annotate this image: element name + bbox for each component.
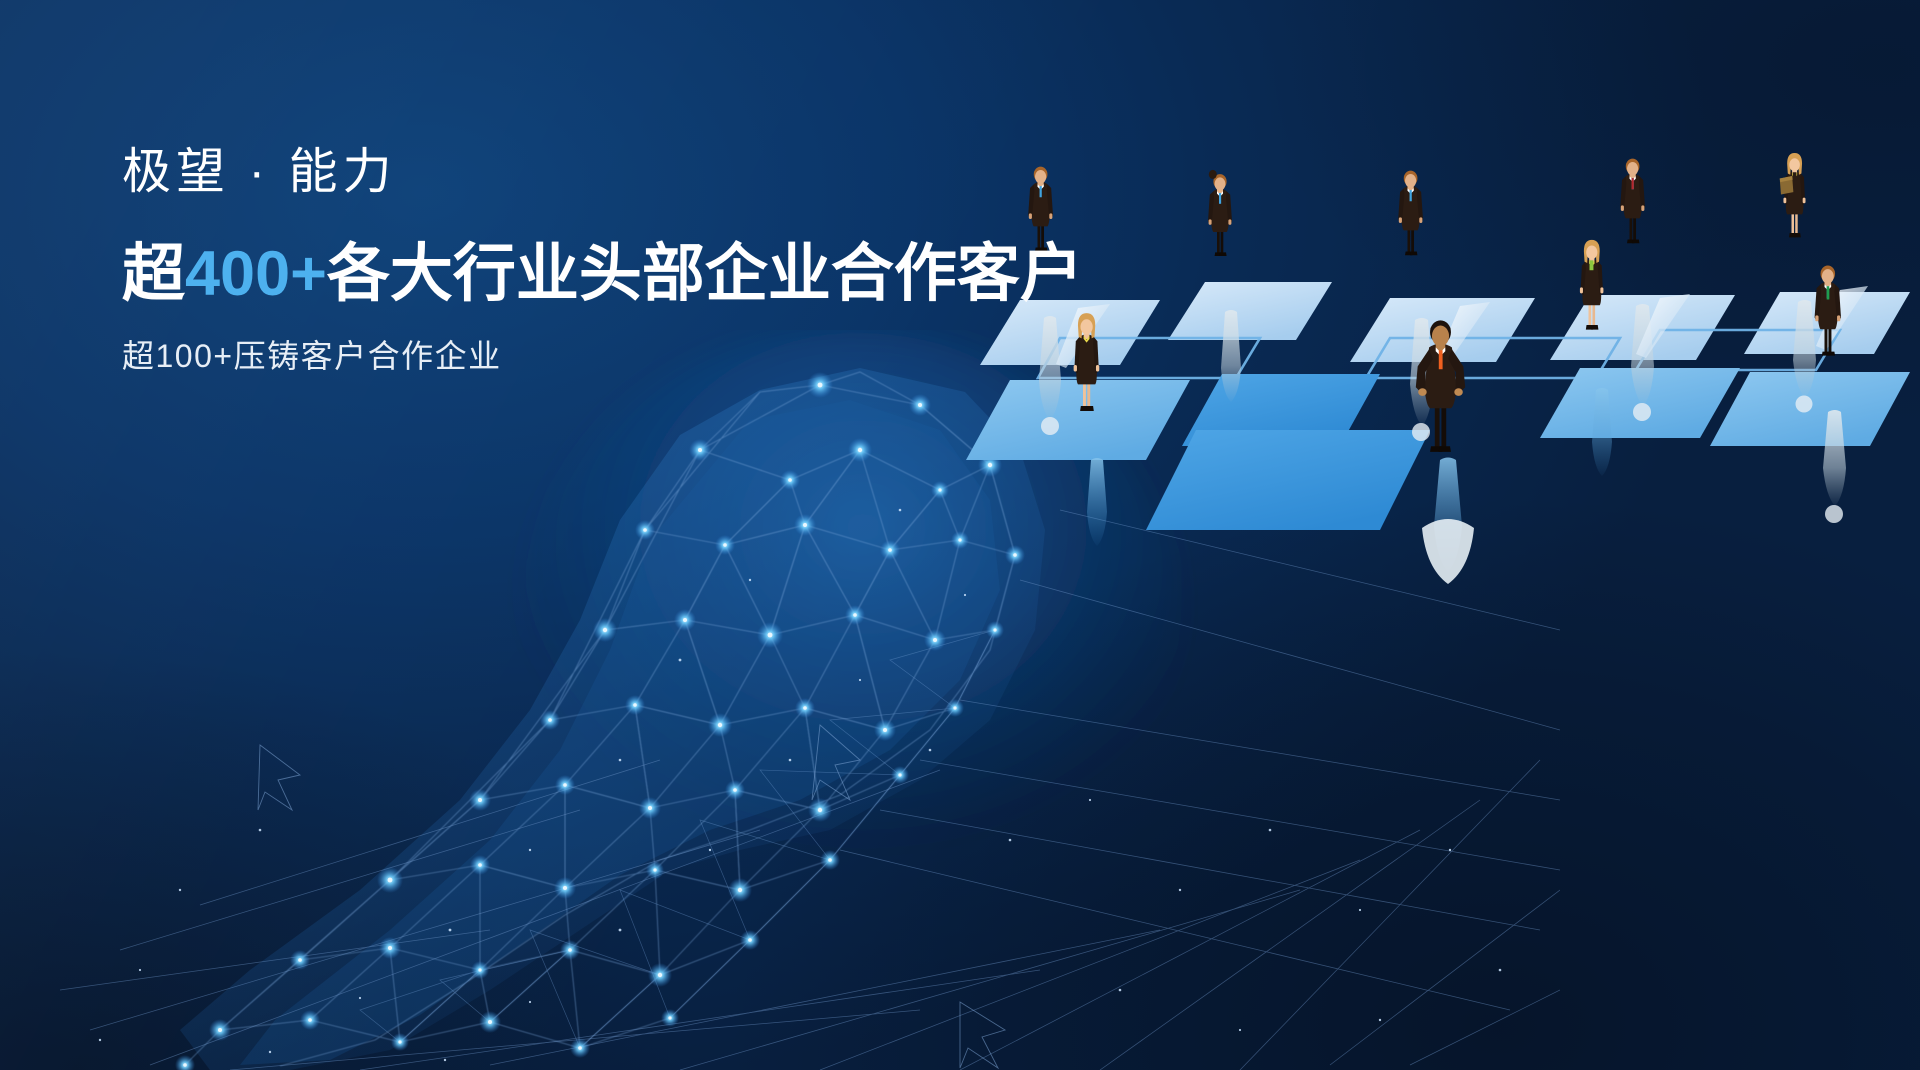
hero-banner: 极望 · 能力 超400+各大行业头部企业合作客户 超100+压铸客户合作企业 (0, 0, 1920, 1070)
hero-copy: 极望 · 能力 超400+各大行业头部企业合作客户 超100+压铸客户合作企业 (122, 148, 1122, 372)
headline-suffix: 各大行业头部企业合作客户 (327, 239, 1083, 309)
headline-prefix: 超 (122, 239, 185, 309)
headline-highlight-count: 400+ (185, 239, 327, 309)
page-title: 超400+各大行业头部企业合作客户 (122, 243, 1122, 306)
subtitle-text: 超100+压铸客户合作企业 (122, 340, 1122, 372)
eyebrow-text: 极望 · 能力 (122, 148, 1122, 197)
